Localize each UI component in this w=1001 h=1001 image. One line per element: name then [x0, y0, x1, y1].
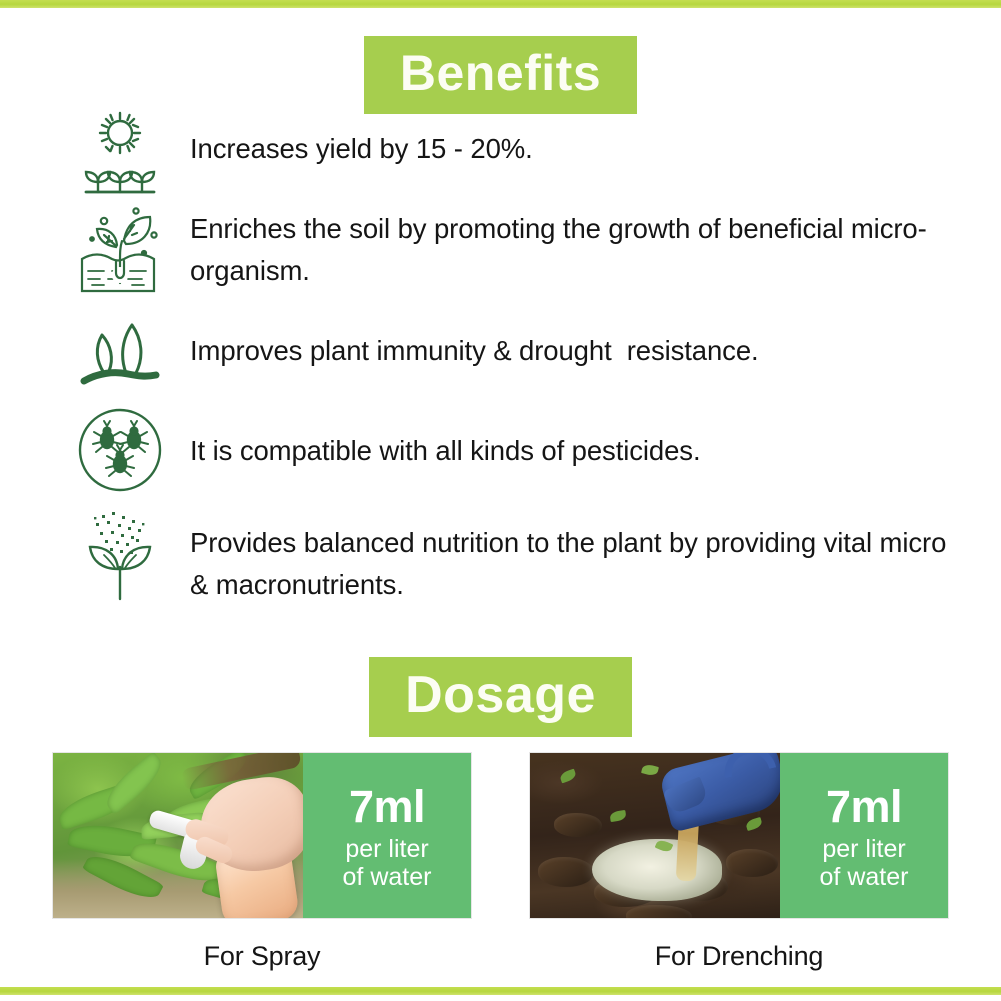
- watering-can-drenching-soil-photo: [530, 753, 780, 918]
- benefit-item: It is compatible with all kinds of pesti…: [0, 404, 1001, 496]
- top-accent-stripe: [0, 0, 1001, 8]
- dosage-card-spray: 7ml per liter of water For Spray: [52, 752, 472, 972]
- sun-over-sprouts-icon: [72, 106, 168, 198]
- dosage-unit-line-2: of water: [343, 863, 432, 891]
- benefit-text: Enriches the soil by promoting the growt…: [168, 204, 971, 292]
- dosage-unit-line-1: per liter: [820, 835, 909, 863]
- dosage-amount-panel: 7ml per liter of water: [303, 753, 471, 918]
- dosage-unit: per liter of water: [343, 835, 432, 891]
- benefit-text: It is compatible with all kinds of pesti…: [168, 404, 971, 472]
- benefits-list: Increases yield by 15 - 20%.: [0, 104, 1001, 612]
- benefits-heading: Benefits: [364, 36, 637, 114]
- plant-in-soil-layers-icon: [72, 204, 168, 296]
- dosage-unit-line-1: per liter: [343, 835, 432, 863]
- infographic-page: Benefits: [0, 0, 1001, 1001]
- dosage-amount-panel: 7ml per liter of water: [780, 753, 948, 918]
- dosage-amount: 7ml: [349, 784, 425, 829]
- dosage-card-body: 7ml per liter of water: [52, 752, 472, 919]
- hand-spraying-plants-photo: [53, 753, 303, 918]
- dosage-amount: 7ml: [826, 784, 902, 829]
- benefit-item: Improves plant immunity & drought resist…: [0, 306, 1001, 392]
- benefit-item: Increases yield by 15 - 20%.: [0, 106, 1001, 198]
- dosage-unit: per liter of water: [820, 835, 909, 891]
- two-leaves-on-ground-icon: [72, 306, 168, 392]
- benefits-heading-wrap: Benefits: [0, 36, 1001, 114]
- dosage-unit-line-2: of water: [820, 863, 909, 891]
- insects-in-circle-icon: [72, 404, 168, 496]
- dosage-heading: Dosage: [369, 657, 632, 737]
- dosage-caption: For Drenching: [529, 941, 949, 972]
- benefit-item: Enriches the soil by promoting the growt…: [0, 204, 1001, 296]
- dosage-heading-wrap: Dosage: [0, 657, 1001, 737]
- dosage-cards: 7ml per liter of water For Spray: [0, 752, 1001, 972]
- dosage-caption: For Spray: [52, 941, 472, 972]
- benefit-text: Improves plant immunity & drought resist…: [168, 306, 971, 372]
- benefit-text: Increases yield by 15 - 20%.: [168, 106, 971, 170]
- dosage-card-drenching: 7ml per liter of water For Drenching: [529, 752, 949, 972]
- sprout-with-nutrients-icon: [72, 506, 168, 606]
- benefit-text: Provides balanced nutrition to the plant…: [168, 506, 971, 606]
- bottom-accent-stripe: [0, 987, 1001, 995]
- benefit-item: Provides balanced nutrition to the plant…: [0, 506, 1001, 606]
- dosage-card-body: 7ml per liter of water: [529, 752, 949, 919]
